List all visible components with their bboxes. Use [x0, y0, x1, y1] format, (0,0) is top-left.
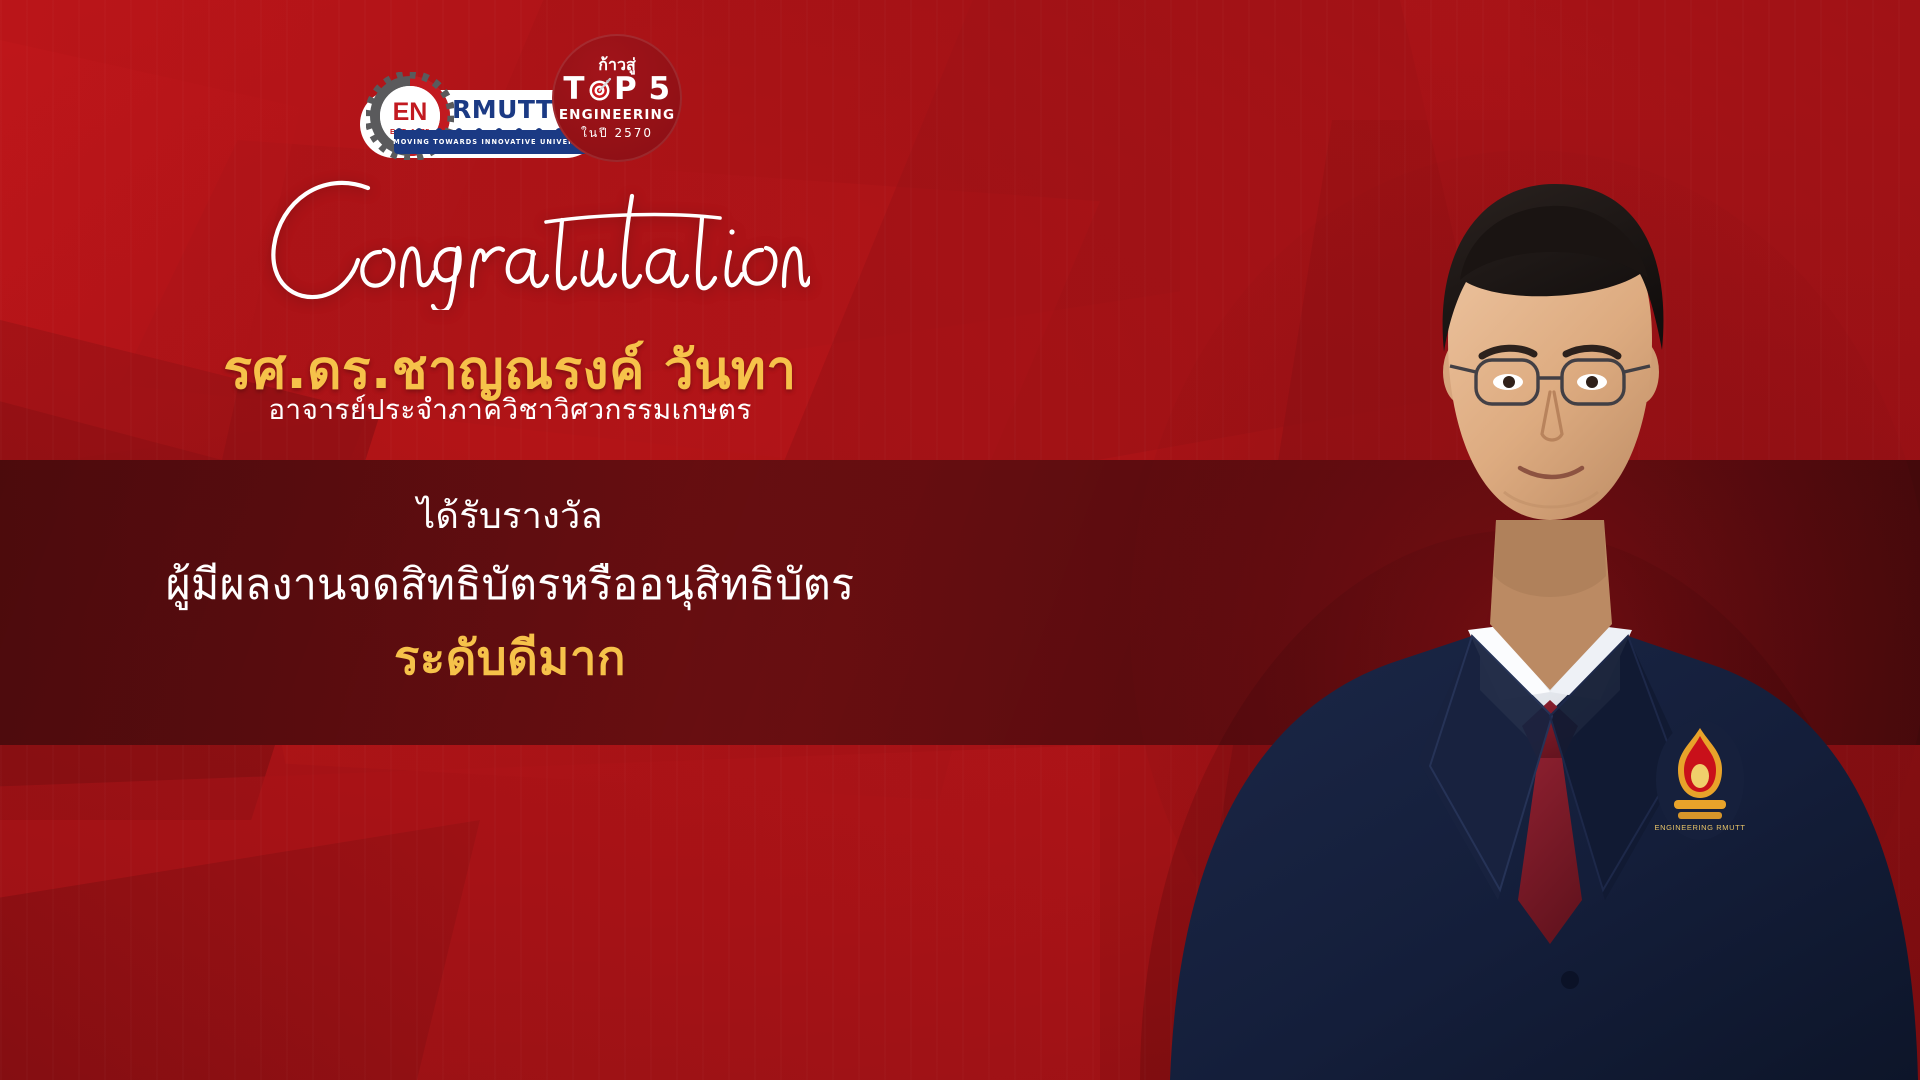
honoree-role: อาจารย์ประจำภาควิชาวิศวกรรมเกษตร [0, 388, 1020, 432]
bg-shard [0, 745, 1100, 1080]
svg-text:ENGINEERING RMUTT: ENGINEERING RMUTT [1654, 823, 1745, 832]
svg-text:EN: EN [393, 98, 428, 126]
badge-letters-p5: P 5 [614, 74, 671, 105]
award-intro: ได้รับรางวัล [0, 487, 1020, 544]
award-level: ระดับดีมาก [0, 620, 1020, 695]
bg-shard [0, 820, 480, 1080]
rmutt-wordmark: RMUTT [452, 97, 554, 122]
logo-group: EN EST. 1975 RMUTT MOVING TOWARDS INNOVA… [360, 34, 680, 154]
congratulations-banner: ENGINEERING RMUTT [0, 0, 1920, 1080]
congratulations-script [250, 160, 810, 310]
target-bullseye-icon [587, 77, 612, 102]
badge-engineering-label: ENGINEERING [559, 109, 675, 123]
portrait-photo: ENGINEERING RMUTT [1100, 0, 1920, 1080]
badge-year-label: ในปี 2570 [581, 127, 653, 139]
award-title: ผู้มีผลงานจดสิทธิบัตรหรืออนุสิทธิบัตร [0, 550, 1020, 618]
badge-letter-t: T [563, 74, 585, 105]
badge-top5-text: T P 5 [563, 74, 670, 105]
top5-engineering-badge: ก้าวสู่ T P 5 ENGINEERING ในปี 2570 [552, 34, 682, 162]
